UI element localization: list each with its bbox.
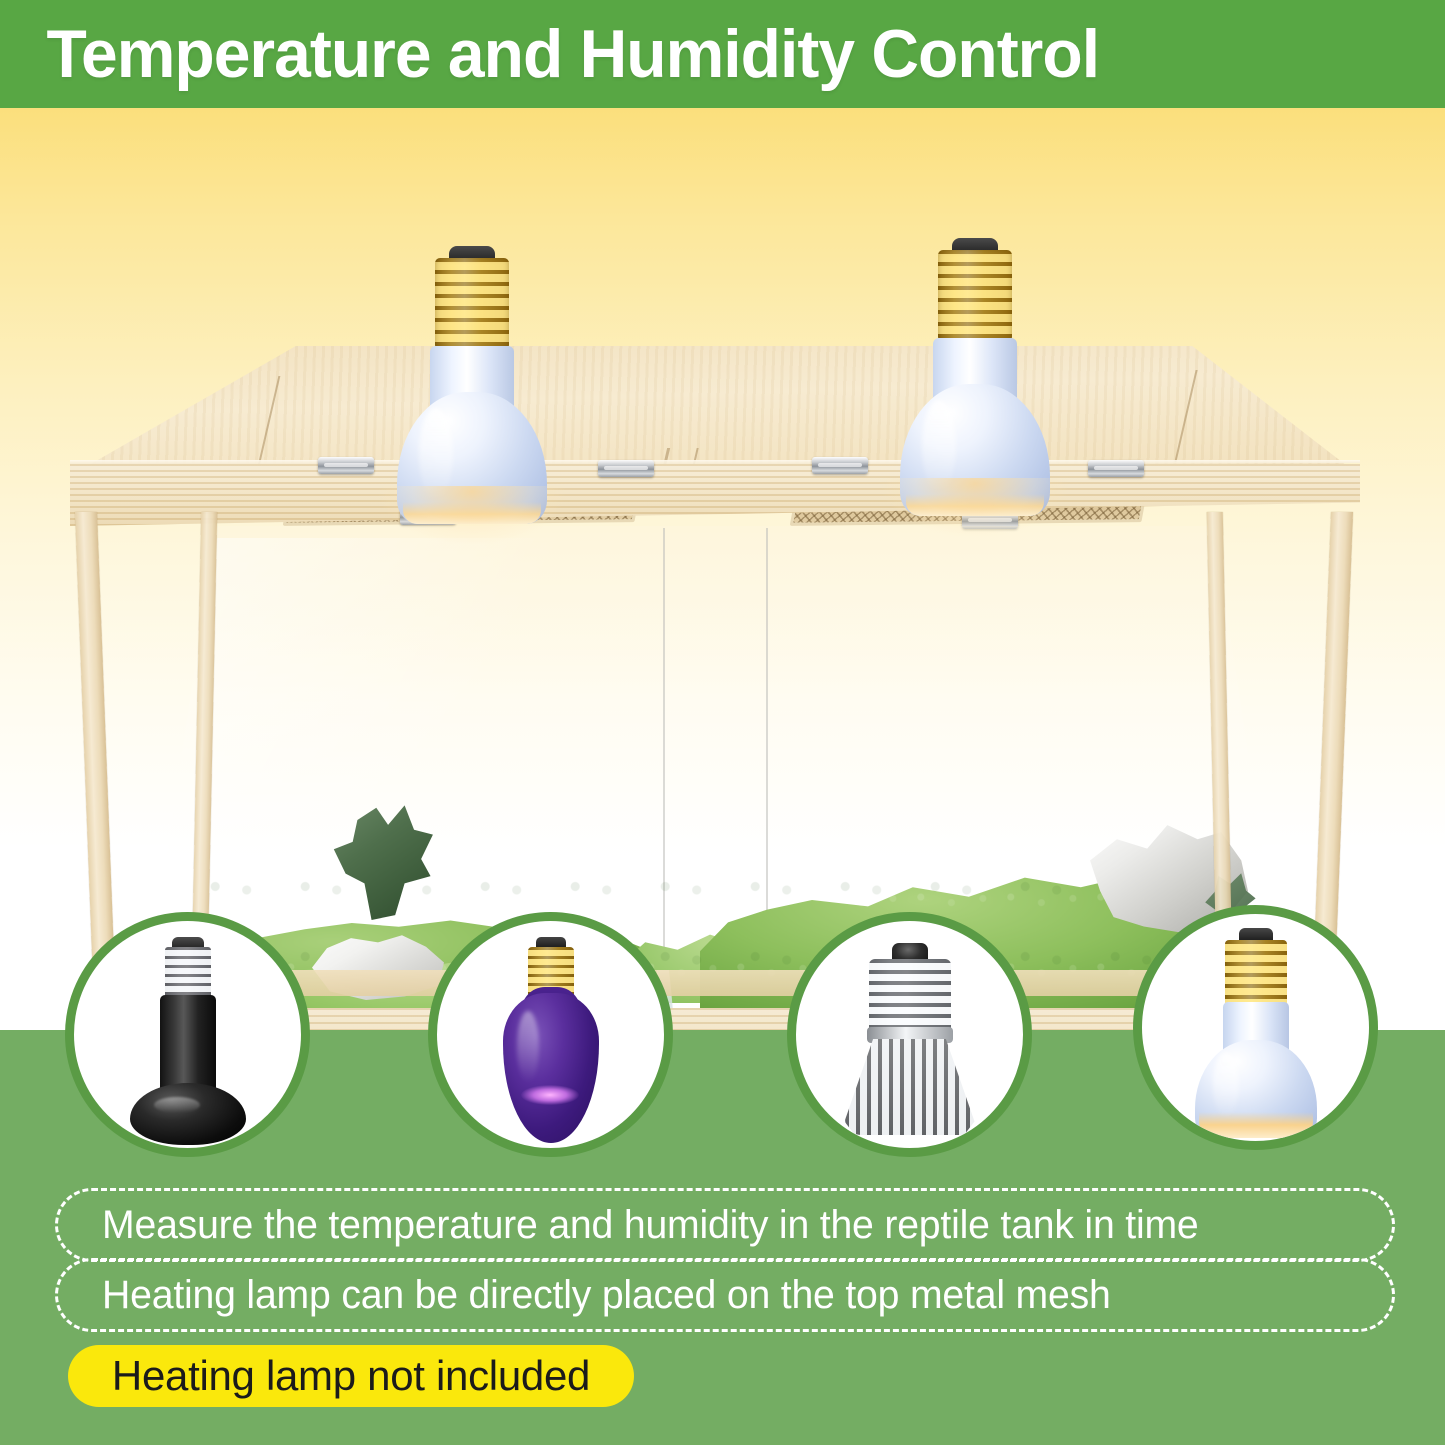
feature-caption-measure: Measure the temperature and humidity in … <box>55 1188 1395 1262</box>
bulb-screw-base-icon <box>1225 940 1287 1006</box>
badge-label: Heating lamp not included <box>112 1352 590 1400</box>
bulb-filament-glow <box>521 1085 579 1105</box>
lamp-thumbnail-chrome-halogen-spot[interactable] <box>787 912 1032 1157</box>
blue-basking-reflector-bulb-icon <box>1195 928 1317 1140</box>
feature-caption-heating-lamp-placement: Heating lamp can be directly placed on t… <box>55 1258 1395 1332</box>
emitter-ceramic-disc <box>130 1083 246 1145</box>
purple-night-bulb-icon <box>495 935 607 1150</box>
emitter-body <box>160 995 216 1097</box>
bulb-glass-body <box>503 993 599 1143</box>
bulb-highlight <box>517 1011 539 1083</box>
infographic-stage: Temperature and Humidity Control <box>0 0 1445 1445</box>
lamp-thumbnail-blue-basking-bulb[interactable] <box>1133 905 1378 1150</box>
bulb-faceted-reflector <box>845 1039 975 1135</box>
lamp-thumbnail-purple-night-bulb[interactable] <box>428 912 673 1157</box>
emitter-screw-base-icon <box>165 947 211 1001</box>
caption-text: Measure the temperature and humidity in … <box>102 1203 1199 1248</box>
bulb-highlight <box>1213 1052 1239 1118</box>
ceramic-heat-emitter-icon <box>128 937 248 1149</box>
lamp-thumbnail-ceramic-heat-emitter[interactable] <box>65 912 310 1157</box>
caption-text: Heating lamp can be directly placed on t… <box>102 1273 1111 1318</box>
chrome-halogen-spot-bulb-icon <box>843 943 977 1139</box>
bulb-screw-base-icon <box>869 959 951 1033</box>
emitter-highlight <box>154 1097 200 1113</box>
status-badge-not-included: Heating lamp not included <box>68 1345 634 1407</box>
